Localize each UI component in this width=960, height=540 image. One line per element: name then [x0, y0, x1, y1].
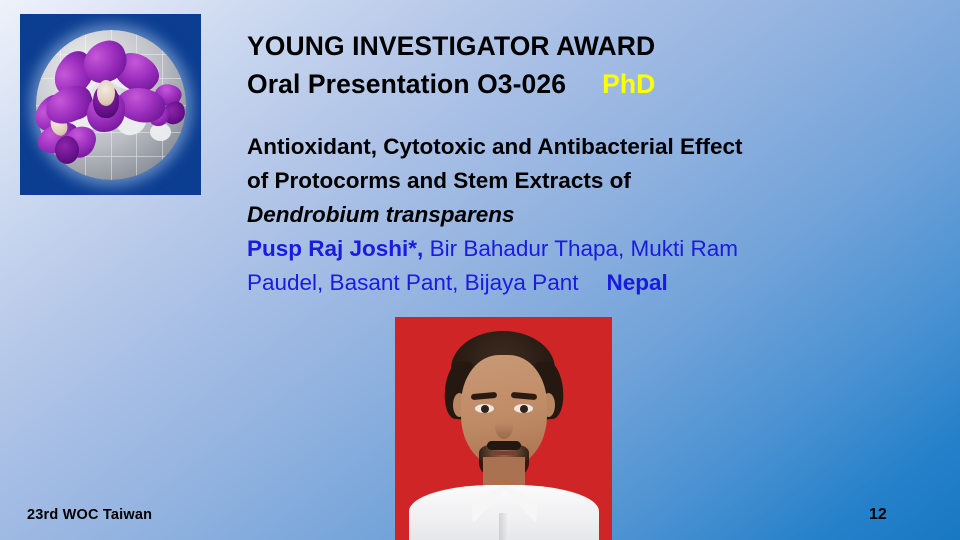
eye-right-shape — [514, 404, 533, 413]
session-label: Oral Presentation O3-026 — [247, 69, 566, 99]
abstract-title-line-2: of Protocorms and Stem Extracts of — [247, 164, 937, 198]
session-line: Oral Presentation O3-026PhD — [247, 65, 937, 103]
author-line-1: Pusp Raj Joshi*, Bir Bahadur Thapa, Mukt… — [247, 232, 937, 266]
eye-left-shape — [475, 404, 494, 413]
presenter-portrait — [395, 317, 612, 540]
coauthors-part-2: Paudel, Basant Pant, Bijaya Pant — [247, 270, 578, 295]
presentation-slide: YOUNG INVESTIGATOR AWARD Oral Presentati… — [0, 0, 960, 540]
moustache-shape — [487, 441, 521, 450]
species-name: Dendrobium transparens — [247, 198, 937, 232]
mouth-shape — [493, 451, 515, 455]
nose-shape — [495, 413, 513, 439]
author-line-2: Paudel, Basant Pant, Bijaya PantNepal — [247, 266, 937, 300]
footer-event-label: 23rd WOC Taiwan — [27, 507, 152, 523]
coauthors-part-1: Bir Bahadur Thapa, Mukti Ram — [423, 236, 738, 261]
page-number: 12 — [869, 506, 887, 524]
spacer — [247, 103, 937, 130]
author-country: Nepal — [606, 270, 667, 295]
conference-logo — [20, 14, 201, 195]
orchid-flower-icon — [31, 40, 191, 170]
slide-text-block: YOUNG INVESTIGATOR AWARD Oral Presentati… — [247, 27, 937, 300]
shirt-placket-shape — [499, 513, 509, 540]
abstract-title-line-1: Antioxidant, Cytotoxic and Antibacterial… — [247, 130, 937, 164]
presenting-author: Pusp Raj Joshi*, — [247, 236, 423, 261]
degree-badge: PhD — [602, 69, 655, 99]
award-title: YOUNG INVESTIGATOR AWARD — [247, 27, 937, 65]
